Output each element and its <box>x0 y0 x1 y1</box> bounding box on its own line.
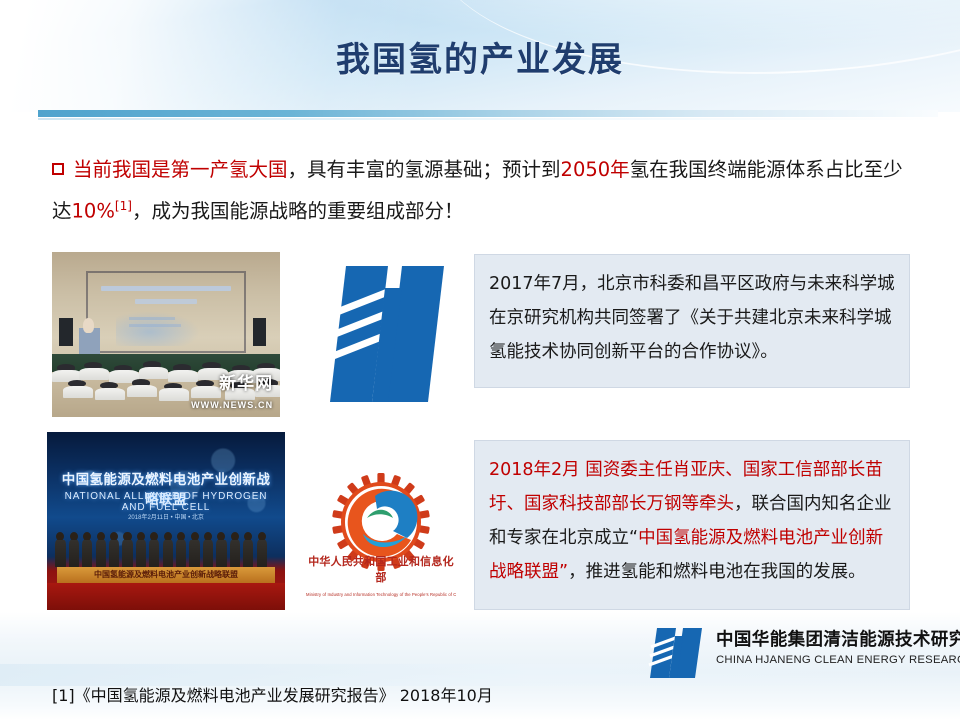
bullet-footnote-ref: [1] <box>115 199 132 213</box>
huaneng-brand-logo-icon <box>648 625 706 681</box>
huaneng-h-logo <box>328 258 456 410</box>
institute-name-en: CHINA HJANENG CLEAN ENERGY RESEARCH INST… <box>716 654 960 666</box>
presentation-slide: 我国氢的产业发展 当前我国是第一产氢大国，具有丰富的氢源基础；预计到2050年氢… <box>0 0 960 720</box>
photo-presenter <box>83 318 94 333</box>
backdrop-title-en: NATIONAL ALLIANCE OF HYDROGEN AND FUEL C… <box>54 491 278 513</box>
signing-ceremony-photo: 新华网 WWW.NEWS.CN <box>52 252 280 417</box>
page-title: 我国氢的产业发展 <box>0 32 960 81</box>
photo-stage-screen <box>88 273 243 351</box>
institute-name-cn: 中国华能集团清洁能源技术研究院 <box>716 626 960 651</box>
xinhua-watermark-cn: 新华网 <box>219 369 273 394</box>
photo-group-row <box>54 532 278 568</box>
footnote-reference: [1]《中国氢能源及燃料电池产业发展研究报告》 2018年10月 <box>52 682 493 706</box>
key-point-paragraph: 当前我国是第一产氢大国，具有丰富的氢源基础；预计到2050年氢在我国终端能源体系… <box>52 152 912 230</box>
callout-2018: 2018年2月 国资委主任肖亚庆、国家工信部部长苗圩、国家科技部部长万钢等牵头，… <box>474 440 910 610</box>
callout-2018-seg-6: ，推进氢能和燃料电池在我国的发展。 <box>568 562 866 582</box>
photo-speaker-stack-left <box>59 318 73 346</box>
miit-label-cn: 中华人民共和国工业和信息化部 <box>306 553 456 585</box>
stage-front-banner: 中国氢能源及燃料电池产业创新战略联盟 <box>57 567 276 583</box>
backdrop-date: 2018年2月11日 • 中国 • 北京 <box>47 514 285 523</box>
institute-branding: 中国华能集团清洁能源技术研究院 CHINA HJANENG CLEAN ENER… <box>648 622 948 686</box>
photo-speaker-stack-right <box>253 318 267 346</box>
miit-label-en: Ministry of Industry and Information Tec… <box>306 592 456 597</box>
bullet-seg-6: ，成为我国能源战略的重要组成部分！ <box>132 200 464 223</box>
callout-2018-quote-open: “ <box>629 528 638 548</box>
bullet-seg-1: 当前我国是第一产氢大国 <box>73 158 288 181</box>
photo-red-carpet <box>47 583 285 610</box>
xinhua-watermark-url: WWW.NEWS.CN <box>191 400 273 410</box>
miit-emblem: 中华人民共和国工业和信息化部 Ministry of Industry and … <box>306 470 456 602</box>
bullet-square-icon <box>52 163 64 175</box>
header-divider-secondary <box>38 118 938 120</box>
bullet-seg-2: ，具有丰富的氢源基础；预计到 <box>288 158 561 181</box>
callout-2018-quote-close: ” <box>559 562 568 582</box>
callout-2017: 2017年7月，北京市科委和昌平区政府与未来科学城在京研究机构共同签署了《关于共… <box>474 254 910 388</box>
bullet-seg-3: 2050年 <box>561 158 630 181</box>
header-divider <box>38 110 938 117</box>
bullet-seg-5: 10% <box>72 200 115 223</box>
callout-2017-text: 2017年7月，北京市科委和昌平区政府与未来科学城在京研究机构共同签署了《关于共… <box>489 274 895 362</box>
alliance-launch-photo: 中国氢能源及燃料电池产业创新战略联盟 NATIONAL ALLIANCE OF … <box>47 432 285 610</box>
